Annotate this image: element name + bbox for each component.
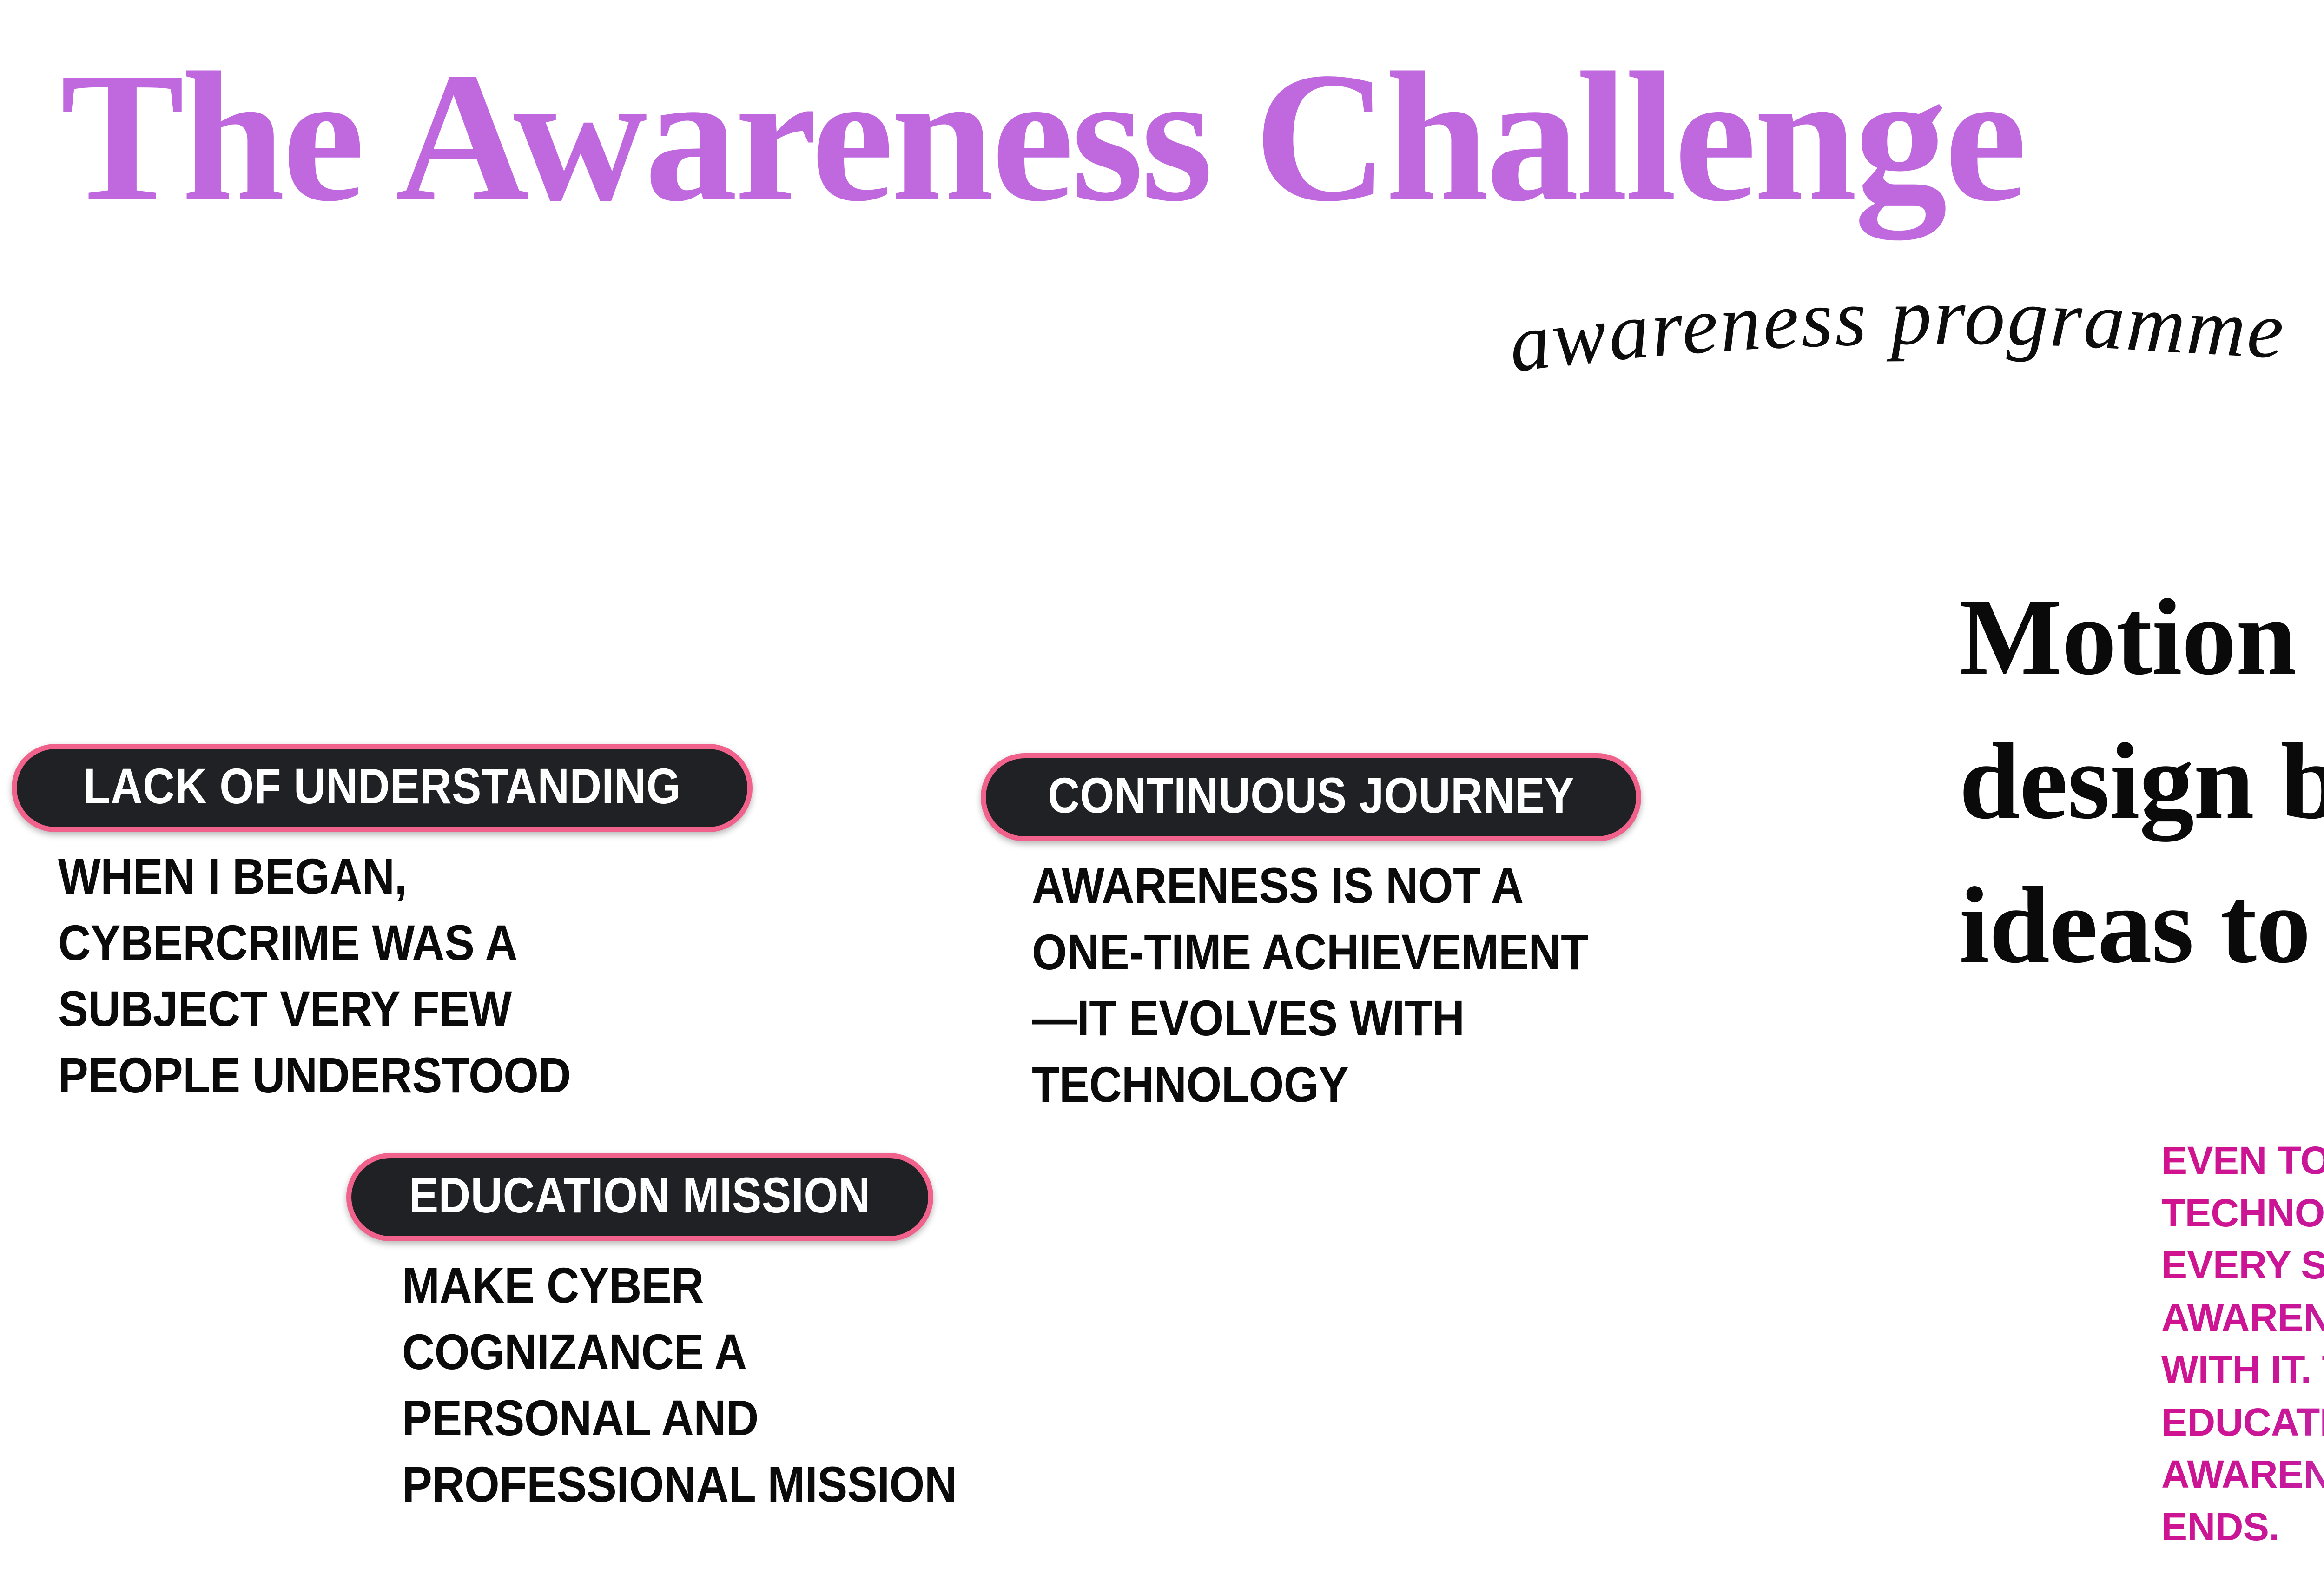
card-line: PROFESSIONAL MISSION <box>402 1451 957 1518</box>
page-title: The Awareness Challenge <box>60 44 2024 230</box>
card-line: COGNIZANCE A <box>402 1319 957 1385</box>
heading-line: ideas to life <box>1959 853 2324 997</box>
info-card-education-mission: EDUCATION MISSION MAKE CYBER COGNIZANCE … <box>346 1153 1018 1517</box>
heading-line: Motion <box>1959 565 2324 709</box>
script-subtitle-svg: awareness programme <box>1504 242 2324 437</box>
info-card-lack-of-understanding: LACK OF UNDERSTANDING WHEN I BEGAN, CYBE… <box>12 744 753 1108</box>
status-badge-education-mission[interactable]: EDUCATION MISSION <box>346 1153 933 1241</box>
card-line: PERSONAL AND <box>402 1385 957 1451</box>
card-body-lack-of-understanding: WHEN I BEGAN, CYBERCRIME WAS A SUBJECT V… <box>58 843 753 1108</box>
card-body-education-mission: MAKE CYBER COGNIZANCE A PERSONAL AND PRO… <box>402 1252 1018 1517</box>
card-line: ONE-TIME ACHIEVEMENT <box>1032 919 1588 986</box>
heading-line: design brings <box>1959 709 2324 853</box>
badge-label: LACK OF UNDERSTANDING <box>84 761 681 811</box>
card-body-continuous-journey: AWARENESS IS NOT A ONE-TIME ACHIEVEMENT … <box>1032 853 1650 1118</box>
info-card-continuous-journey: CONTINUOUS JOURNEY AWARENESS IS NOT A ON… <box>981 753 1650 1118</box>
script-subtitle-text: awareness programme <box>1504 271 2287 389</box>
status-badge-lack-of-understanding[interactable]: LACK OF UNDERSTANDING <box>12 744 753 832</box>
card-line: PEOPLE UNDERSTOOD <box>58 1042 683 1109</box>
badge-label: CONTINUOUS JOURNEY <box>1048 770 1574 821</box>
motion-design-heading: Motion design brings ideas to life <box>1959 565 2324 998</box>
card-line: AWARENESS IS NOT A <box>1032 853 1588 919</box>
card-line: WHEN I BEGAN, <box>58 843 683 910</box>
card-line: TECHNOLOGY <box>1032 1052 1588 1118</box>
badge-label: EDUCATION MISSION <box>409 1170 871 1220</box>
script-subtitle: awareness programme <box>1504 242 2324 437</box>
card-line: —IT EVOLVES WITH <box>1032 985 1588 1052</box>
card-line: MAKE CYBER <box>402 1252 957 1319</box>
card-line: SUBJECT VERY FEW <box>58 976 683 1042</box>
slide-canvas: The Awareness Challenge awareness progra… <box>0 0 2324 1569</box>
card-line: CYBERCRIME WAS A <box>58 910 683 976</box>
awareness-evolution-paragraph: EVEN TODAY, AS TECHNOLOGY EVOLVES EVERY … <box>2161 1134 2324 1553</box>
status-badge-continuous-journey[interactable]: CONTINUOUS JOURNEY <box>981 753 1641 841</box>
